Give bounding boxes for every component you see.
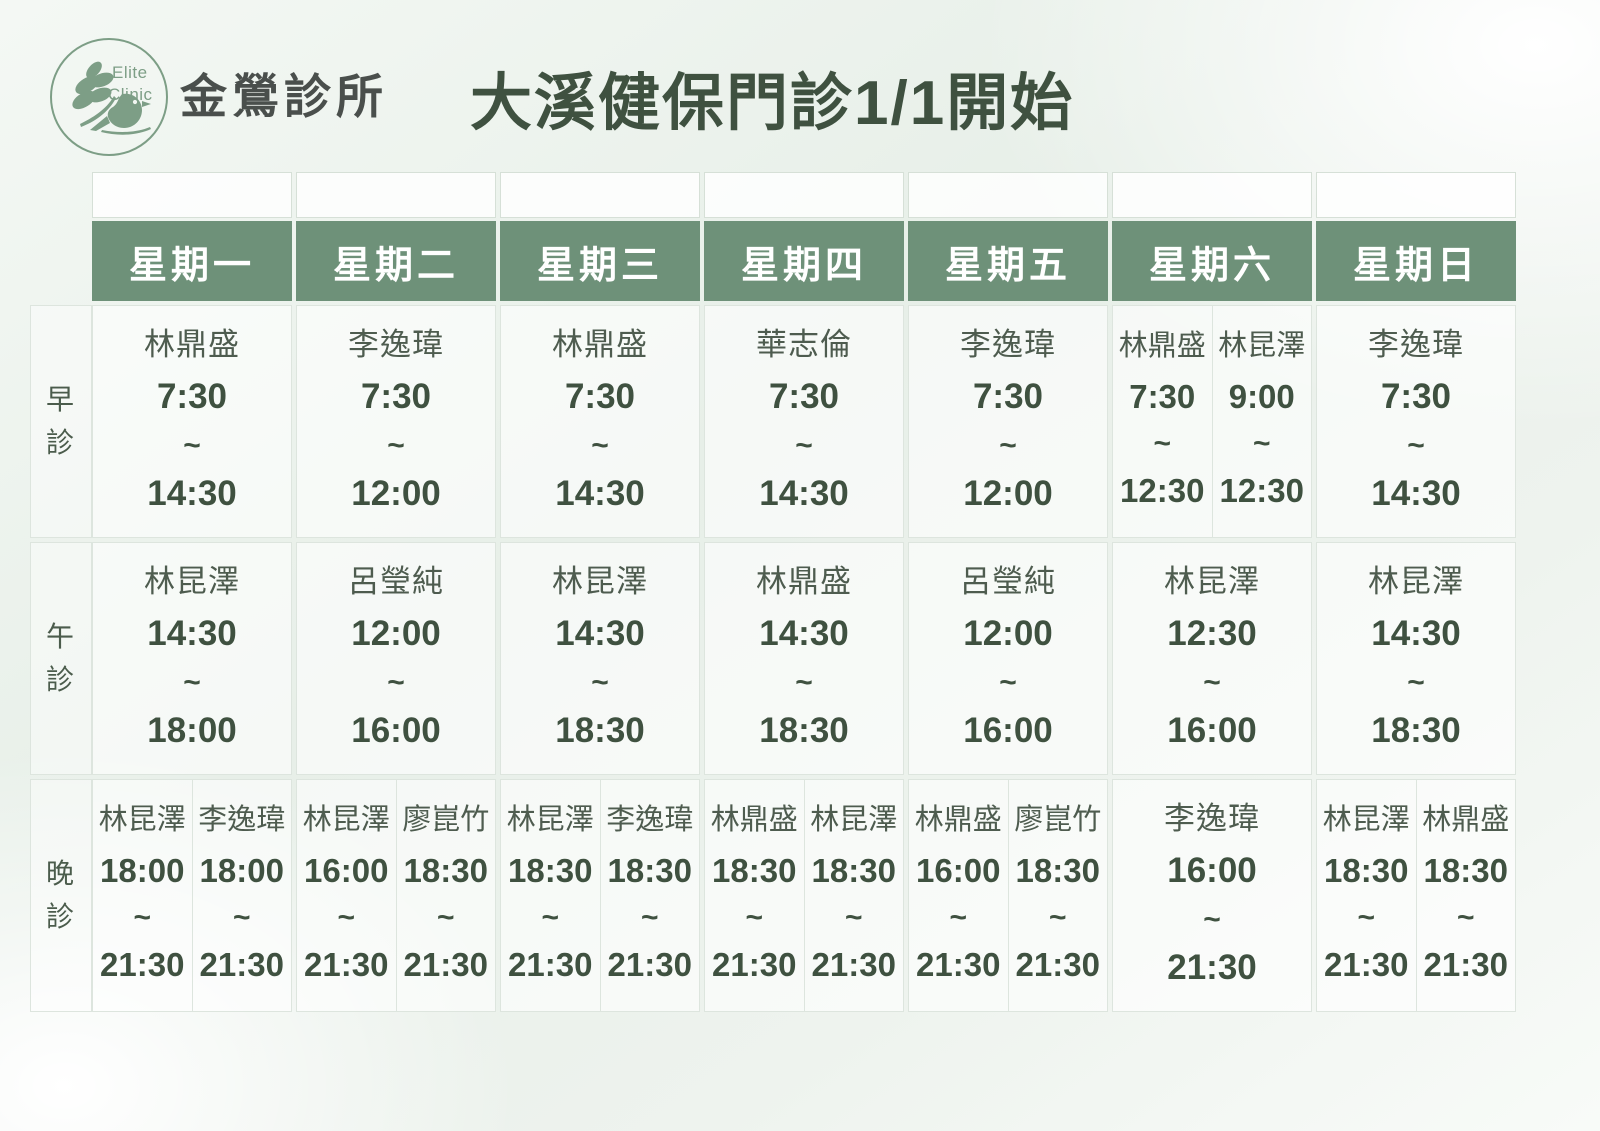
schedule-cell[interactable]: 李逸瑋7:30~12:00 [908,305,1108,538]
doctor-name: 呂瑩純 [960,565,1056,599]
schedule-cell[interactable]: 林昆澤14:30~18:00 [92,542,292,775]
shift-end-time: 16:00 [1167,712,1257,751]
doctor-name: 林昆澤 [1164,565,1260,599]
doctor-name: 林鼎盛 [1119,331,1206,363]
shift-slot[interactable]: 林昆澤18:00~21:30 [93,780,192,1011]
shift-slot[interactable]: 華志倫7:30~14:30 [705,306,903,537]
clinic-name: 金鶯診所 [180,58,388,127]
schedule-col-6: 李逸瑋16:00~21:30 [1112,779,1312,1012]
schedule-col-7: 林昆澤18:30~21:30林鼎盛18:30~21:30 [1316,779,1516,1012]
row-label-午診: 午診 [30,542,92,775]
day-header-3[interactable]: 星期三 [500,221,700,301]
time-range-separator: ~ [183,431,201,461]
schedule-cell[interactable]: 林昆澤14:30~18:30 [1316,542,1516,775]
doctor-name: 林鼎盛 [756,565,852,599]
shift-end-time: 21:30 [712,947,796,983]
shift-end-time: 21:30 [1324,947,1408,983]
blank-header-cell-7 [1316,172,1516,218]
day-header-col-4: 星期四 [704,221,904,301]
row-label-char: 午 [46,616,76,659]
time-range-separator: ~ [949,903,967,933]
shift-slot[interactable]: 林昆澤18:30~21:30 [1317,780,1416,1011]
shift-end-time: 12:30 [1220,473,1304,509]
blank-header-cell-6 [1112,172,1312,218]
row-label-col-2: 午診 [30,542,92,775]
blank-cell-box [1316,172,1516,218]
shift-slot[interactable]: 林昆澤14:30~18:30 [1317,543,1515,774]
bird-on-branch-icon: Elite Clinic [50,38,168,156]
shift-slot[interactable]: 林昆澤16:00~21:30 [297,780,396,1011]
shift-slot[interactable]: 林昆澤14:30~18:30 [501,543,699,774]
schedule-col-2: 林昆澤16:00~21:30廖崑竹18:30~21:30 [296,779,496,1012]
day-header-col-1: 星期一 [92,221,292,301]
schedule-cell[interactable]: 林鼎盛7:30~14:30 [92,305,292,538]
schedule-cell[interactable]: 李逸瑋16:00~21:30 [1112,779,1312,1012]
shift-end-time: 18:30 [555,712,645,751]
shift-start-time: 7:30 [157,378,227,417]
shift-end-time: 21:30 [608,947,692,983]
blank-header-cell-4 [704,172,904,218]
row-label-晚診: 晚診 [30,779,92,1012]
shift-end-time: 21:30 [916,947,1000,983]
time-range-separator: ~ [795,431,813,461]
schedule-col-6: 林鼎盛7:30~12:30林昆澤9:00~12:30 [1112,305,1312,538]
shift-slot[interactable]: 林鼎盛7:30~12:30 [1113,306,1212,537]
shift-slot[interactable]: 廖崑竹18:30~21:30 [396,780,496,1011]
blank-cell-box [704,172,904,218]
doctor-name: 林昆澤 [810,805,897,837]
time-range-separator: ~ [1407,668,1425,698]
day-header-2[interactable]: 星期二 [296,221,496,301]
shift-start-time: 7:30 [565,378,635,417]
time-range-separator: ~ [387,431,405,461]
shift-end-time: 12:00 [351,475,441,514]
shift-start-time: 18:30 [608,853,692,889]
doctor-name: 李逸瑋 [1368,328,1464,362]
time-range-separator: ~ [541,903,559,933]
header-corner-spacer [30,221,92,301]
schedule-col-2: 李逸瑋7:30~12:00 [296,305,496,538]
time-range-separator: ~ [1203,668,1221,698]
shift-start-time: 18:00 [200,853,284,889]
shift-slot[interactable]: 林昆澤9:00~12:30 [1212,306,1312,537]
schedule-cell[interactable]: 呂瑩純12:00~16:00 [908,542,1108,775]
time-range-separator: ~ [1253,429,1271,459]
shift-slot[interactable]: 呂瑩純12:00~16:00 [297,543,495,774]
time-range-separator: ~ [845,903,863,933]
shift-start-time: 14:30 [147,615,237,654]
doctor-name: 華志倫 [756,328,852,362]
page-title: 大溪健保門診1/1開始 [470,52,1074,142]
schedule-cell[interactable]: 林昆澤12:30~16:00 [1112,542,1312,775]
doctor-name: 林昆澤 [303,805,390,837]
corner-spacer [30,172,92,218]
shift-end-time: 21:30 [1016,947,1100,983]
doctor-name: 呂瑩純 [348,565,444,599]
schedule-cell[interactable]: 林昆澤16:00~21:30廖崑竹18:30~21:30 [296,779,496,1012]
shift-end-time: 12:00 [963,475,1053,514]
doctor-name: 林鼎盛 [711,805,798,837]
shift-start-time: 12:00 [351,615,441,654]
doctor-name: 廖崑竹 [402,805,489,837]
shift-end-time: 21:30 [304,947,388,983]
shift-slot[interactable]: 林鼎盛7:30~14:30 [93,306,291,537]
logo-text-elite: Elite [112,63,148,82]
shift-start-time: 12:30 [1167,615,1257,654]
shift-end-time: 18:00 [147,712,237,751]
shift-end-time: 21:30 [508,947,592,983]
clinic-schedule-page: Elite Clinic 金鶯診所 大溪健保門診1/1開始 星期一星期二星期三星… [0,0,1600,1131]
schedule-col-1: 林昆澤14:30~18:00 [92,542,292,775]
time-range-separator: ~ [133,903,151,933]
shift-slot[interactable]: 林鼎盛14:30~18:30 [705,543,903,774]
day-header-col-7: 星期日 [1316,221,1516,301]
shift-slot[interactable]: 呂瑩純12:00~16:00 [909,543,1107,774]
time-range-separator: ~ [795,668,813,698]
shift-start-time: 18:30 [508,853,592,889]
row-label-早診: 早診 [30,305,92,538]
schedule-col-5: 呂瑩純12:00~16:00 [908,542,1108,775]
shift-slot[interactable]: 林鼎盛16:00~21:30 [909,780,1008,1011]
shift-start-time: 7:30 [1129,379,1195,415]
day-header-col-2: 星期二 [296,221,496,301]
blank-cell-box [92,172,292,218]
schedule-cell[interactable]: 林昆澤18:00~21:30李逸瑋18:00~21:30 [92,779,292,1012]
shift-start-time: 18:00 [100,853,184,889]
doctor-name: 林昆澤 [1323,805,1410,837]
schedule-col-1: 林昆澤18:00~21:30李逸瑋18:00~21:30 [92,779,292,1012]
doctor-name: 林昆澤 [144,565,240,599]
doctor-name: 李逸瑋 [606,805,693,837]
day-header-6[interactable]: 星期六 [1112,221,1312,301]
shift-slot[interactable]: 林昆澤18:30~21:30 [804,780,904,1011]
time-range-separator: ~ [233,903,251,933]
shift-start-time: 18:30 [1016,853,1100,889]
shift-end-time: 14:30 [759,475,849,514]
shift-slot[interactable]: 李逸瑋18:30~21:30 [600,780,700,1011]
schedule-col-2: 呂瑩純12:00~16:00 [296,542,496,775]
schedule-row-晚診: 晚診林昆澤18:00~21:30李逸瑋18:00~21:30林昆澤16:00~2… [30,779,1516,1012]
schedule-row-早診: 早診林鼎盛7:30~14:30李逸瑋7:30~12:00林鼎盛7:30~14:3… [30,305,1516,538]
day-header-5[interactable]: 星期五 [908,221,1108,301]
day-header-col-3: 星期三 [500,221,700,301]
blank-cell-box [500,172,700,218]
shift-slot[interactable]: 廖崑竹18:30~21:30 [1008,780,1108,1011]
day-header-row: 星期一星期二星期三星期四星期五星期六星期日 [30,221,1516,301]
doctor-name: 李逸瑋 [960,328,1056,362]
shift-start-time: 12:00 [963,615,1053,654]
shift-end-time: 21:30 [200,947,284,983]
blank-cell-box [908,172,1108,218]
schedule-col-7: 林昆澤14:30~18:30 [1316,542,1516,775]
blank-cell-box [296,172,496,218]
shift-slot[interactable]: 林鼎盛18:30~21:30 [705,780,804,1011]
schedule-cell[interactable]: 林昆澤14:30~18:30 [500,542,700,775]
time-range-separator: ~ [387,668,405,698]
shift-end-time: 16:00 [351,712,441,751]
shift-slot[interactable]: 李逸瑋7:30~12:00 [297,306,495,537]
shift-start-time: 18:30 [1424,853,1508,889]
shift-end-time: 18:30 [759,712,849,751]
shift-end-time: 14:30 [555,475,645,514]
schedule-row-cells: 林昆澤18:00~21:30李逸瑋18:00~21:30林昆澤16:00~21:… [92,779,1516,1012]
schedule-col-5: 李逸瑋7:30~12:00 [908,305,1108,538]
shift-start-time: 7:30 [1381,378,1451,417]
clinic-logo: Elite Clinic [50,38,168,156]
day-header-col-5: 星期五 [908,221,1108,301]
shift-start-time: 18:30 [404,853,488,889]
shift-start-time: 7:30 [769,378,839,417]
shift-end-time: 21:30 [404,947,488,983]
doctor-name: 李逸瑋 [348,328,444,362]
shift-end-time: 14:30 [1371,475,1461,514]
doctor-name: 李逸瑋 [1164,802,1260,836]
row-label-col-1: 早診 [30,305,92,538]
row-label-char: 早 [46,379,76,422]
shift-start-time: 7:30 [361,378,431,417]
shift-end-time: 21:30 [1424,947,1508,983]
shift-slot[interactable]: 李逸瑋7:30~14:30 [1317,306,1515,537]
schedule-col-4: 林鼎盛14:30~18:30 [704,542,904,775]
schedule-cell[interactable]: 林鼎盛14:30~18:30 [704,542,904,775]
time-range-separator: ~ [337,903,355,933]
time-range-separator: ~ [1457,903,1475,933]
time-range-separator: ~ [437,903,455,933]
doctor-name: 林鼎盛 [1422,805,1509,837]
doctor-name: 林昆澤 [99,805,186,837]
schedule-row-cells: 林鼎盛7:30~14:30李逸瑋7:30~12:00林鼎盛7:30~14:30華… [92,305,1516,538]
time-range-separator: ~ [1407,431,1425,461]
time-range-separator: ~ [1357,903,1375,933]
blank-header-cell-5 [908,172,1108,218]
shift-start-time: 18:30 [1324,853,1408,889]
blank-header-cell-3 [500,172,700,218]
doctor-name: 林昆澤 [552,565,648,599]
schedule-col-3: 林昆澤18:30~21:30李逸瑋18:30~21:30 [500,779,700,1012]
time-range-separator: ~ [183,668,201,698]
day-header-4[interactable]: 星期四 [704,221,904,301]
blank-header-cell-1 [92,172,292,218]
time-range-separator: ~ [641,903,659,933]
shift-end-time: 21:30 [812,947,896,983]
shift-start-time: 18:30 [712,853,796,889]
logo-text-clinic: Clinic [108,85,153,104]
schedule-cell[interactable]: 林鼎盛18:30~21:30林昆澤18:30~21:30 [704,779,904,1012]
schedule-cell[interactable]: 華志倫7:30~14:30 [704,305,904,538]
blank-cell-box [1112,172,1312,218]
shift-slot[interactable]: 林昆澤18:30~21:30 [501,780,600,1011]
doctor-name: 林鼎盛 [144,328,240,362]
day-header-col-6: 星期六 [1112,221,1312,301]
shift-start-time: 9:00 [1229,379,1295,415]
shift-start-time: 14:30 [1371,615,1461,654]
schedule-row-午診: 午診林昆澤14:30~18:00呂瑩純12:00~16:00林昆澤14:30~1… [30,542,1516,775]
time-range-separator: ~ [999,668,1017,698]
schedule-col-6: 林昆澤12:30~16:00 [1112,542,1312,775]
schedule-cell[interactable]: 呂瑩純12:00~16:00 [296,542,496,775]
shift-end-time: 21:30 [1167,949,1257,988]
schedule-row-cells: 林昆澤14:30~18:00呂瑩純12:00~16:00林昆澤14:30~18:… [92,542,1516,775]
schedule-col-4: 林鼎盛18:30~21:30林昆澤18:30~21:30 [704,779,904,1012]
schedule-col-3: 林昆澤14:30~18:30 [500,542,700,775]
shift-start-time: 7:30 [973,378,1043,417]
row-label-char: 診 [46,896,76,939]
doctor-name: 林鼎盛 [915,805,1002,837]
shift-end-time: 12:30 [1120,473,1204,509]
row-label-char: 晚 [46,853,76,896]
doctor-name: 林昆澤 [1368,565,1464,599]
shift-end-time: 14:30 [147,475,237,514]
schedule-col-5: 林鼎盛16:00~21:30廖崑竹18:30~21:30 [908,779,1108,1012]
schedule-body: 早診林鼎盛7:30~14:30李逸瑋7:30~12:00林鼎盛7:30~14:3… [30,305,1516,1012]
shift-start-time: 16:00 [916,853,1000,889]
day-header-1[interactable]: 星期一 [92,221,292,301]
shift-slot[interactable]: 林鼎盛18:30~21:30 [1416,780,1516,1011]
schedule-col-7: 李逸瑋7:30~14:30 [1316,305,1516,538]
time-range-separator: ~ [591,431,609,461]
schedule-col-1: 林鼎盛7:30~14:30 [92,305,292,538]
schedule-cell[interactable]: 林昆澤18:30~21:30李逸瑋18:30~21:30 [500,779,700,1012]
shift-end-time: 16:00 [963,712,1053,751]
row-label-col-3: 晚診 [30,779,92,1012]
time-range-separator: ~ [1203,905,1221,935]
schedule-cell[interactable]: 林鼎盛7:30~12:30林昆澤9:00~12:30 [1112,305,1312,538]
row-label-char: 診 [46,659,76,702]
shift-slot[interactable]: 李逸瑋16:00~21:30 [1113,780,1311,1011]
shift-slot[interactable]: 李逸瑋18:00~21:30 [192,780,292,1011]
blank-header-cell-2 [296,172,496,218]
shift-slot[interactable]: 林鼎盛7:30~14:30 [501,306,699,537]
shift-start-time: 16:00 [304,853,388,889]
shift-start-time: 18:30 [812,853,896,889]
time-range-separator: ~ [1153,429,1171,459]
schedule-cell[interactable]: 林鼎盛16:00~21:30廖崑竹18:30~21:30 [908,779,1108,1012]
schedule-cell[interactable]: 李逸瑋7:30~14:30 [1316,305,1516,538]
shift-start-time: 14:30 [555,615,645,654]
page-header: Elite Clinic 金鶯診所 大溪健保門診1/1開始 [0,0,1600,170]
shift-slot[interactable]: 李逸瑋7:30~12:00 [909,306,1107,537]
schedule-col-3: 林鼎盛7:30~14:30 [500,305,700,538]
time-range-separator: ~ [745,903,763,933]
time-range-separator: ~ [591,668,609,698]
doctor-name: 林昆澤 [507,805,594,837]
shift-start-time: 16:00 [1167,852,1257,891]
row-label-char: 診 [46,422,76,465]
shift-slot[interactable]: 林昆澤12:30~16:00 [1113,543,1311,774]
day-header-7[interactable]: 星期日 [1316,221,1516,301]
doctor-name: 林鼎盛 [552,328,648,362]
time-range-separator: ~ [1049,903,1067,933]
shift-end-time: 21:30 [100,947,184,983]
blank-strip-row [30,172,1516,218]
doctor-name: 李逸瑋 [198,805,285,837]
doctor-name: 廖崑竹 [1014,805,1101,837]
shift-start-time: 14:30 [759,615,849,654]
schedule-table: 星期一星期二星期三星期四星期五星期六星期日 早診林鼎盛7:30~14:30李逸瑋… [30,172,1516,1012]
doctor-name: 林昆澤 [1218,331,1305,363]
schedule-col-4: 華志倫7:30~14:30 [704,305,904,538]
schedule-cell[interactable]: 李逸瑋7:30~12:00 [296,305,496,538]
shift-slot[interactable]: 林昆澤14:30~18:00 [93,543,291,774]
time-range-separator: ~ [999,431,1017,461]
schedule-cell[interactable]: 林鼎盛7:30~14:30 [500,305,700,538]
shift-end-time: 18:30 [1371,712,1461,751]
schedule-cell[interactable]: 林昆澤18:30~21:30林鼎盛18:30~21:30 [1316,779,1516,1012]
